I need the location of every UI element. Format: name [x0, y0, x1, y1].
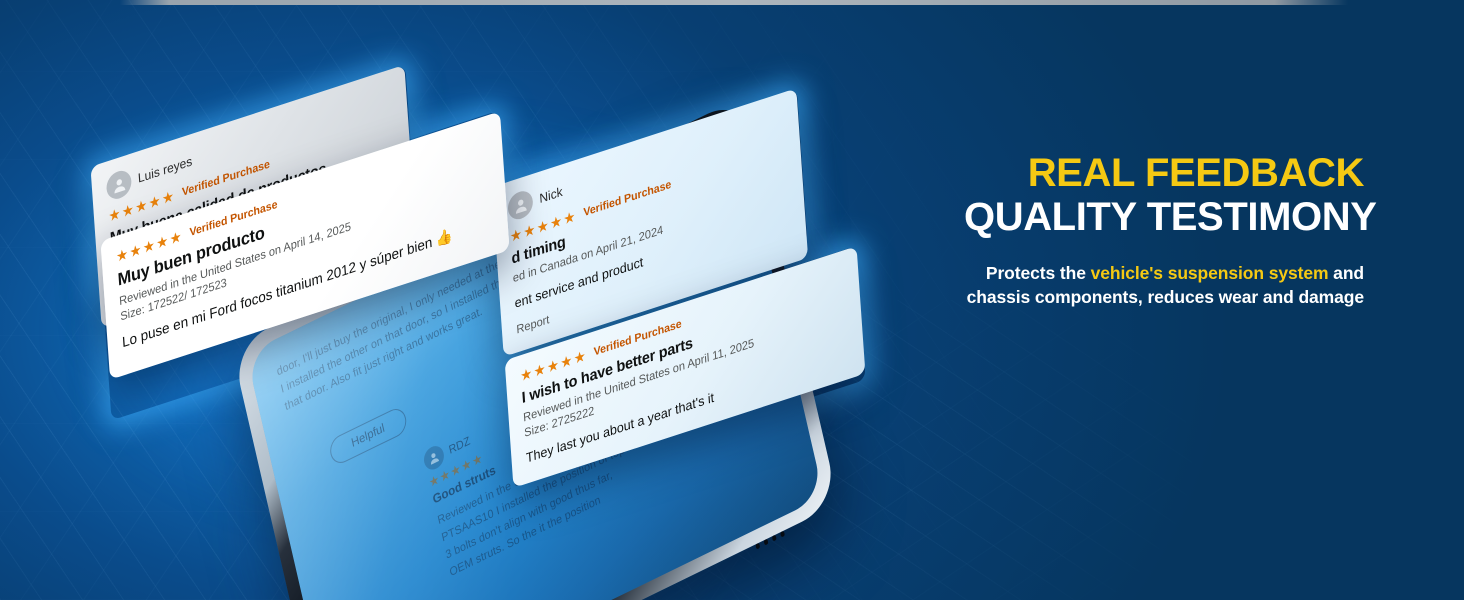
- user-avatar-icon: [507, 188, 534, 223]
- review-username: Luis reyes: [137, 154, 192, 186]
- top-edge-strip: [120, 0, 1348, 5]
- promotional-banner: door, I'll just buy the original, I only…: [0, 0, 1464, 600]
- headline-primary: REAL FEEDBACK: [964, 152, 1364, 194]
- subtitle-highlight: vehicle's suspension system: [1091, 263, 1329, 283]
- user-avatar-icon: [106, 167, 133, 202]
- review-username: Nick: [539, 184, 563, 206]
- headline-block: REAL FEEDBACK QUALITY TESTIMONY Protects…: [964, 152, 1364, 309]
- subtitle: Protects the vehicle's suspension system…: [964, 261, 1364, 309]
- subtitle-part-1: Protects the: [986, 263, 1091, 283]
- headline-secondary: QUALITY TESTIMONY: [964, 196, 1364, 239]
